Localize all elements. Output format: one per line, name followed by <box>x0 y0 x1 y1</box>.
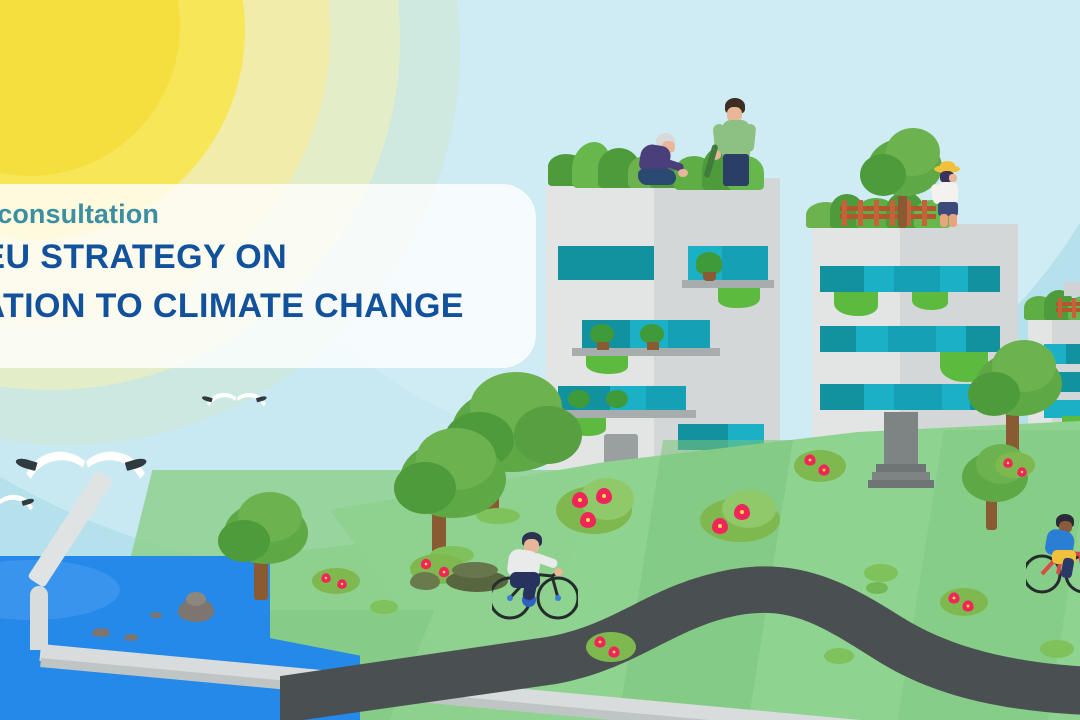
rooftop-gardener-kneeling <box>638 133 684 189</box>
banner-headline-line2: ADAPTATION TO CLIMATE CHANGE <box>0 287 464 326</box>
cyclist-right <box>1026 514 1080 592</box>
cyclist-center <box>494 532 570 612</box>
rooftop-gardener-standing <box>714 98 758 184</box>
banner-headline-line1: NEW EU STRATEGY ON <box>0 238 287 277</box>
stump <box>410 572 440 590</box>
rock-small-3 <box>150 612 162 618</box>
grass-bump-4 <box>370 600 398 614</box>
window-greenery <box>718 288 760 308</box>
grass-bump-3 <box>866 582 888 594</box>
rock-small-2 <box>124 634 138 641</box>
banner-panel: Public consultation NEW EU STRATEGY ON A… <box>0 184 536 368</box>
cycling-path <box>280 520 1080 720</box>
rock-small-1 <box>92 628 110 637</box>
grass-bump-1 <box>864 564 898 582</box>
banner-kicker: Public consultation <box>0 199 159 230</box>
illustration-canvas: Public consultation NEW EU STRATEGY ON A… <box>0 0 1080 720</box>
seawall-curve <box>30 586 48 650</box>
grass-bump-2 <box>824 648 854 664</box>
grass-bump-5 <box>1040 640 1074 658</box>
rooftop-gardener-hat <box>932 165 964 227</box>
